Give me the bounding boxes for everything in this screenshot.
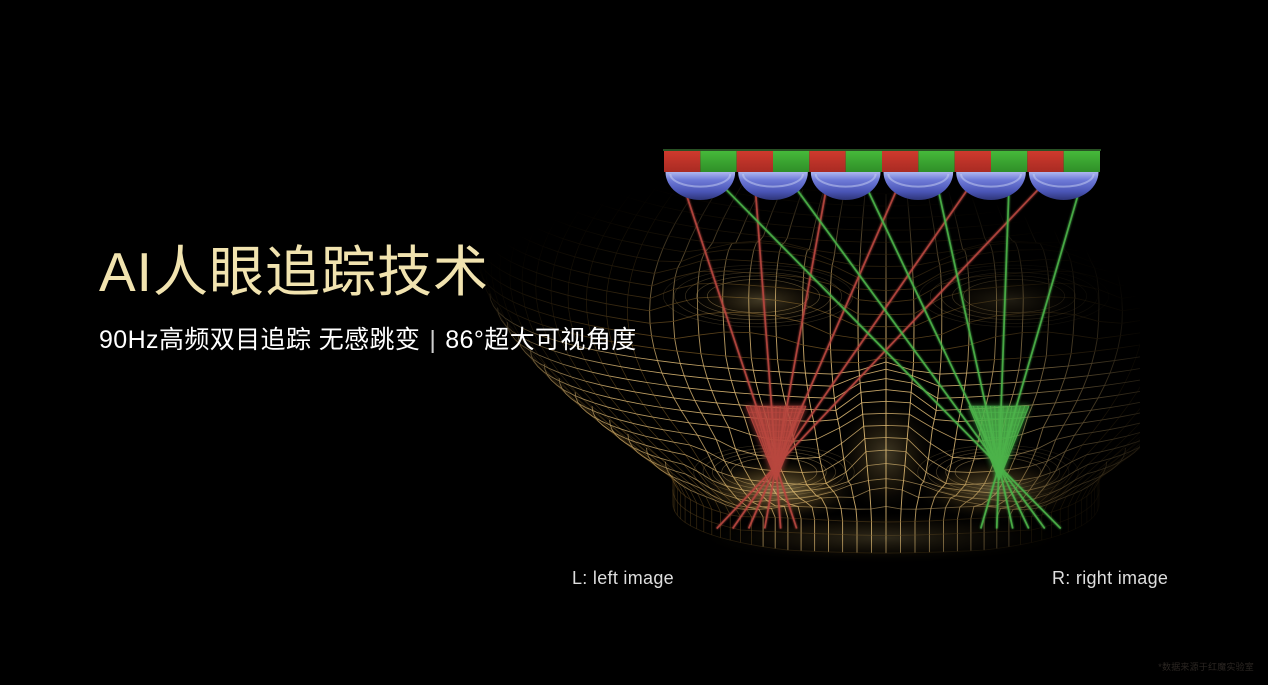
subpixel-red [809,151,845,172]
subpixel-green [991,151,1027,172]
subpixel-green [918,151,954,172]
subtitle-part-one: 90Hz高频双目追踪 无感跳变 [99,326,420,354]
subpixel-red [955,151,991,172]
page-title: AI人眼追踪技术 [99,243,637,302]
subpixel-green [846,151,882,172]
subpixel-green [700,151,736,172]
slide-root: AI人眼追踪技术 90Hz高频双目追踪 无感跳变|86°超大可视角度 L: le… [0,0,1268,685]
subpixel-green [773,151,809,172]
subpixel-green [1064,151,1100,172]
headline-block: AI人眼追踪技术 90Hz高频双目追踪 无感跳变|86°超大可视角度 [99,243,637,357]
legend-right-image: R: right image [1052,568,1168,589]
page-subtitle: 90Hz高频双目追踪 无感跳变|86°超大可视角度 [99,302,637,357]
subpixel-red [882,151,918,172]
subpixel-red [737,151,773,172]
legend-left-image: L: left image [572,568,674,589]
subpixel-red [1027,151,1063,172]
subtitle-divider: | [420,326,445,354]
subpixel-red [664,151,700,172]
footnote-disclaimer: *数据来源于红魔实验室 [1158,660,1254,673]
subtitle-part-two: 86°超大可视角度 [445,326,636,354]
